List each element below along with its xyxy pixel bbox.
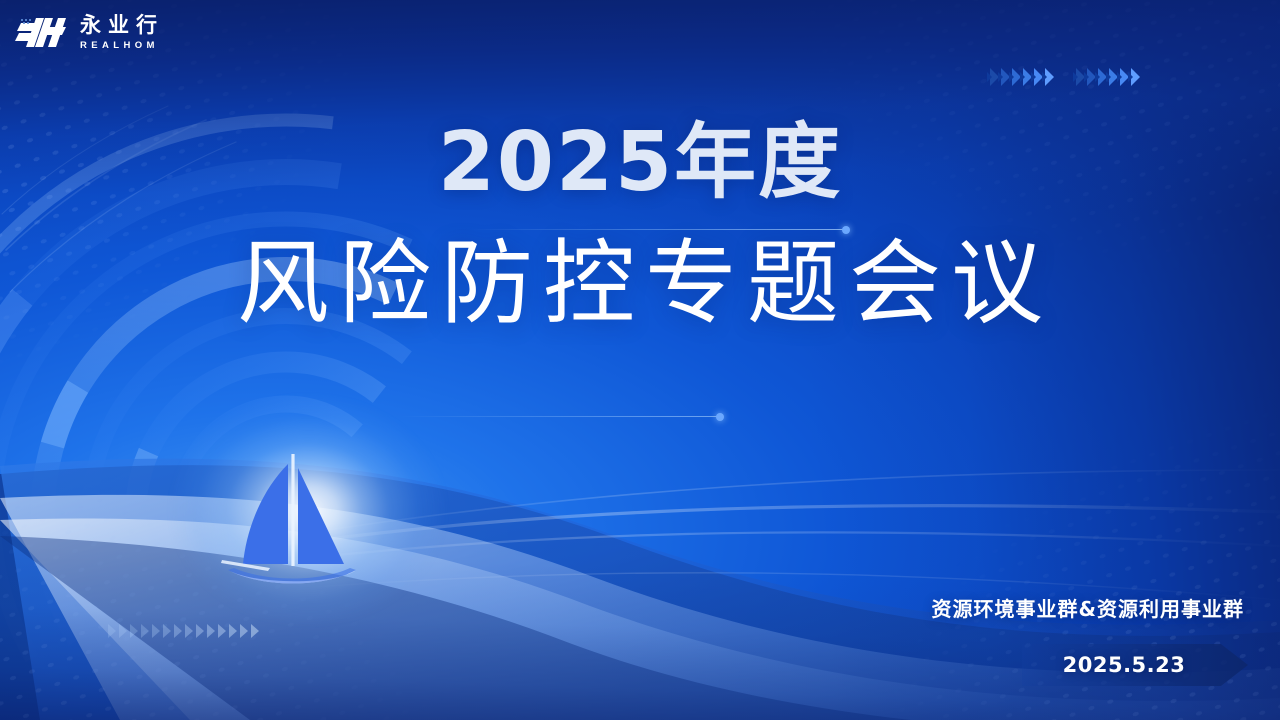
chevron-decoration-top-right (990, 68, 1140, 86)
chevron-right-icon (130, 624, 138, 638)
chevron-right-icon (251, 624, 259, 638)
chevron-right-icon (196, 624, 204, 638)
chevron-right-icon (1131, 68, 1140, 86)
accent-dot-icon (716, 413, 724, 421)
brand-logo: 永业行 REALHOM (14, 14, 164, 52)
chevron-group (990, 68, 1054, 86)
chevron-right-icon (141, 624, 149, 638)
date-ribbon: 2025.5.23 (1022, 644, 1248, 686)
chevron-decoration-bottom-left (108, 624, 259, 638)
page-title: 风险防控专题会议 (0, 232, 1280, 335)
footer-date: 2025.5.23 (1022, 644, 1248, 686)
chevron-right-icon (108, 624, 116, 638)
chevron-right-icon (1045, 68, 1054, 86)
chevron-group (1076, 68, 1140, 86)
chevron-right-icon (218, 624, 226, 638)
chevron-right-icon (174, 624, 182, 638)
brand-name-en: REALHOM (80, 41, 164, 51)
chevron-right-icon (152, 624, 160, 638)
yh-monogram-logo-icon (14, 14, 70, 52)
footer-organization: 资源环境事业群&资源利用事业群 (932, 593, 1244, 622)
title-slide: 永业行 REALHOM (0, 0, 1280, 720)
chevron-right-icon (185, 624, 193, 638)
chevron-right-icon (163, 624, 171, 638)
title-block: 2025年度 风险防控专题会议 (0, 120, 1280, 335)
chevron-right-icon (207, 624, 215, 638)
brand-name-cn: 永业行 (80, 15, 164, 36)
chevron-right-icon (119, 624, 127, 638)
title-year: 2025年度 (0, 120, 1280, 206)
chevron-right-icon (240, 624, 248, 638)
accent-line-lower (400, 416, 720, 417)
chevron-right-icon (229, 624, 237, 638)
